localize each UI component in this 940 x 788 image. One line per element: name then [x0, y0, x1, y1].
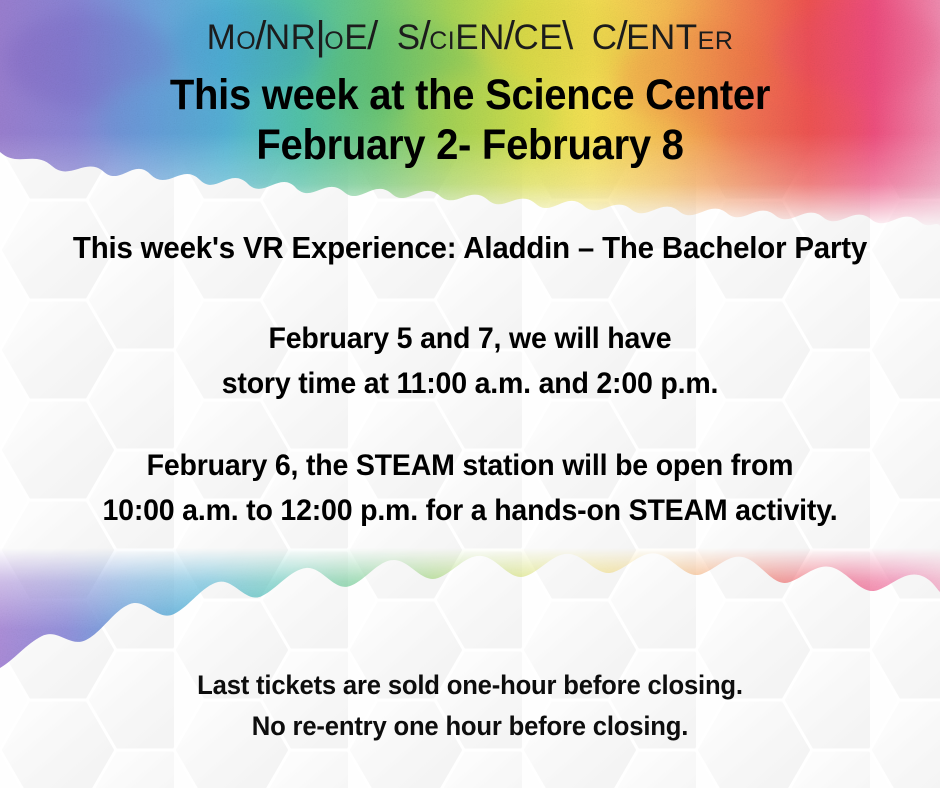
logo-letter: E — [344, 18, 368, 58]
steam-station-announcement: February 6, the STEAM station will be op… — [24, 443, 917, 533]
logo-letter: S — [397, 18, 421, 58]
page-title: This week at the Science Center February… — [33, 70, 907, 170]
story-time-line-1: February 5 and 7, we will have — [24, 316, 917, 361]
page-title-date-range: February 2- February 8 — [33, 120, 907, 170]
no-re-entry-notice: No re-entry one hour before closing. — [24, 706, 917, 747]
steam-station-line-1: February 6, the STEAM station will be op… — [24, 443, 917, 488]
logo-letter-small: E — [698, 21, 715, 61]
logo-letter: T — [676, 18, 698, 58]
logo-letters: MO/NR|OE/S/CIEN/CE\C/ENTER — [207, 18, 734, 57]
logo-letter-small: O — [324, 21, 344, 61]
logo-slash-mark: / — [367, 16, 379, 56]
logo-letter-small: O — [236, 21, 256, 61]
logo-letter: N — [479, 18, 505, 58]
logo-letter: E — [626, 18, 650, 58]
logo-letter: N — [265, 18, 291, 58]
steam-station-line-2: 10:00 a.m. to 12:00 p.m. for a hands-on … — [24, 488, 917, 533]
story-time-announcement: February 5 and 7, we will have story tim… — [24, 316, 917, 406]
page-title-line-1: This week at the Science Center — [33, 70, 907, 120]
closing-policy-notice: Last tickets are sold one-hour before cl… — [24, 665, 917, 747]
vr-experience-text: This week's VR Experience: Aladdin – The… — [24, 228, 917, 268]
logo-letter: E — [455, 18, 479, 58]
weekly-event-poster: MO/NR|OE/S/CIEN/CE\C/ENTER This week at … — [0, 0, 940, 788]
monroe-science-center-logo: MO/NR|OE/S/CIEN/CE\C/ENTER — [0, 16, 940, 61]
vr-experience-announcement: This week's VR Experience: Aladdin – The… — [24, 228, 917, 268]
logo-letter-small: C — [429, 21, 448, 61]
story-time-line-2: story time at 11:00 a.m. and 2:00 p.m. — [24, 361, 917, 406]
logo-slash-mark: \ — [562, 16, 574, 56]
logo-letter: C — [592, 18, 618, 58]
logo-letter: N — [650, 18, 676, 58]
logo-letter-small: I — [448, 21, 455, 61]
logo-letter: E — [539, 18, 563, 58]
logo-letter-small: R — [715, 21, 734, 61]
logo-letter: C — [513, 18, 539, 58]
last-tickets-notice: Last tickets are sold one-hour before cl… — [24, 665, 917, 706]
logo-letter: R — [291, 18, 317, 58]
logo-letter: M — [207, 18, 237, 58]
